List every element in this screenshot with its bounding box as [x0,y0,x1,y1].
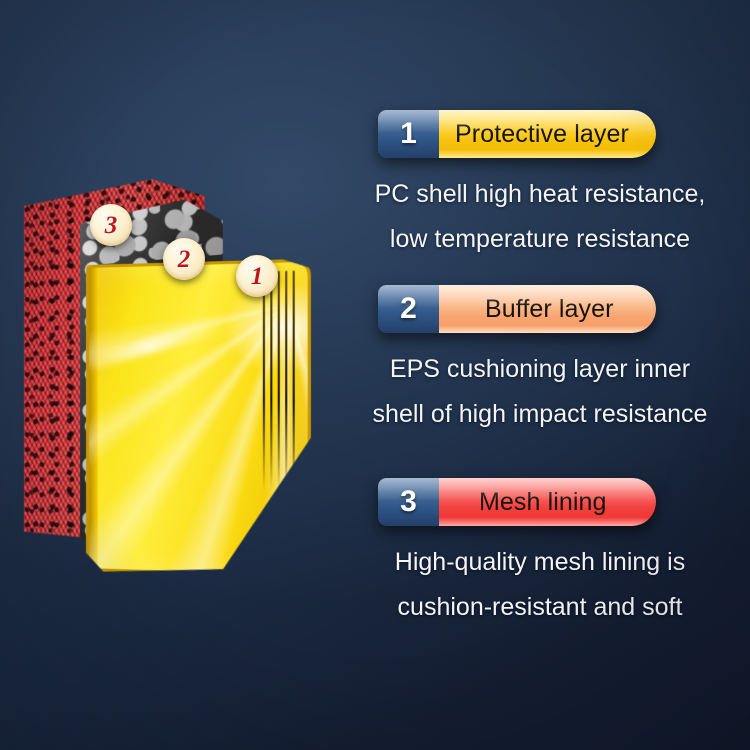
feature-description-2-line-2: shell of high impact resistance [330,392,750,437]
feature-pill-2-number: 2 [378,285,439,333]
helmet-layer-cutaway-illustration: 3 2 1 [0,150,330,620]
feature-block-3: 3 Mesh lining High-quality mesh lining i… [330,478,750,630]
feature-description-1-line-2: low temperature resistance [330,217,750,262]
layer-badge-1-number: 1 [251,264,264,289]
feature-pill-1-number: 1 [378,110,439,158]
feature-pill-3-label: Mesh lining [439,478,656,526]
feature-pill-2: 2 Buffer layer [378,285,656,333]
feature-block-2: 2 Buffer layer EPS cushioning layer inne… [330,285,750,437]
layer-badge-3: 3 [90,204,132,246]
feature-description-1: PC shell high heat resistance, low tempe… [330,172,750,262]
feature-pill-1: 1 Protective layer [378,110,656,158]
feature-description-1-line-1: PC shell high heat resistance, [330,172,750,217]
shell-vent-lines [263,270,299,510]
feature-description-3-line-1: High-quality mesh lining is [330,540,750,585]
pc-shell-layer-graphic [86,259,311,579]
feature-pill-3-number: 3 [378,478,439,526]
feature-pill-2-label: Buffer layer [439,285,656,333]
layer-badge-2-number: 2 [178,247,191,272]
feature-description-3-line-2: cushion-resistant and soft [330,585,750,630]
layer-badge-2: 2 [163,238,205,280]
feature-block-1: 1 Protective layer PC shell high heat re… [330,110,750,262]
feature-pill-1-label: Protective layer [439,110,656,158]
feature-pill-3: 3 Mesh lining [378,478,656,526]
layer-badge-3-number: 3 [105,213,118,238]
feature-description-2: EPS cushioning layer inner shell of high… [330,347,750,437]
layer-badge-1: 1 [236,255,278,297]
infographic-stage: 3 2 1 1 Protective layer PC shell high h… [0,0,750,750]
feature-description-3: High-quality mesh lining is cushion-resi… [330,540,750,630]
feature-panel: 1 Protective layer PC shell high heat re… [330,0,750,750]
feature-description-2-line-1: EPS cushioning layer inner [330,347,750,392]
